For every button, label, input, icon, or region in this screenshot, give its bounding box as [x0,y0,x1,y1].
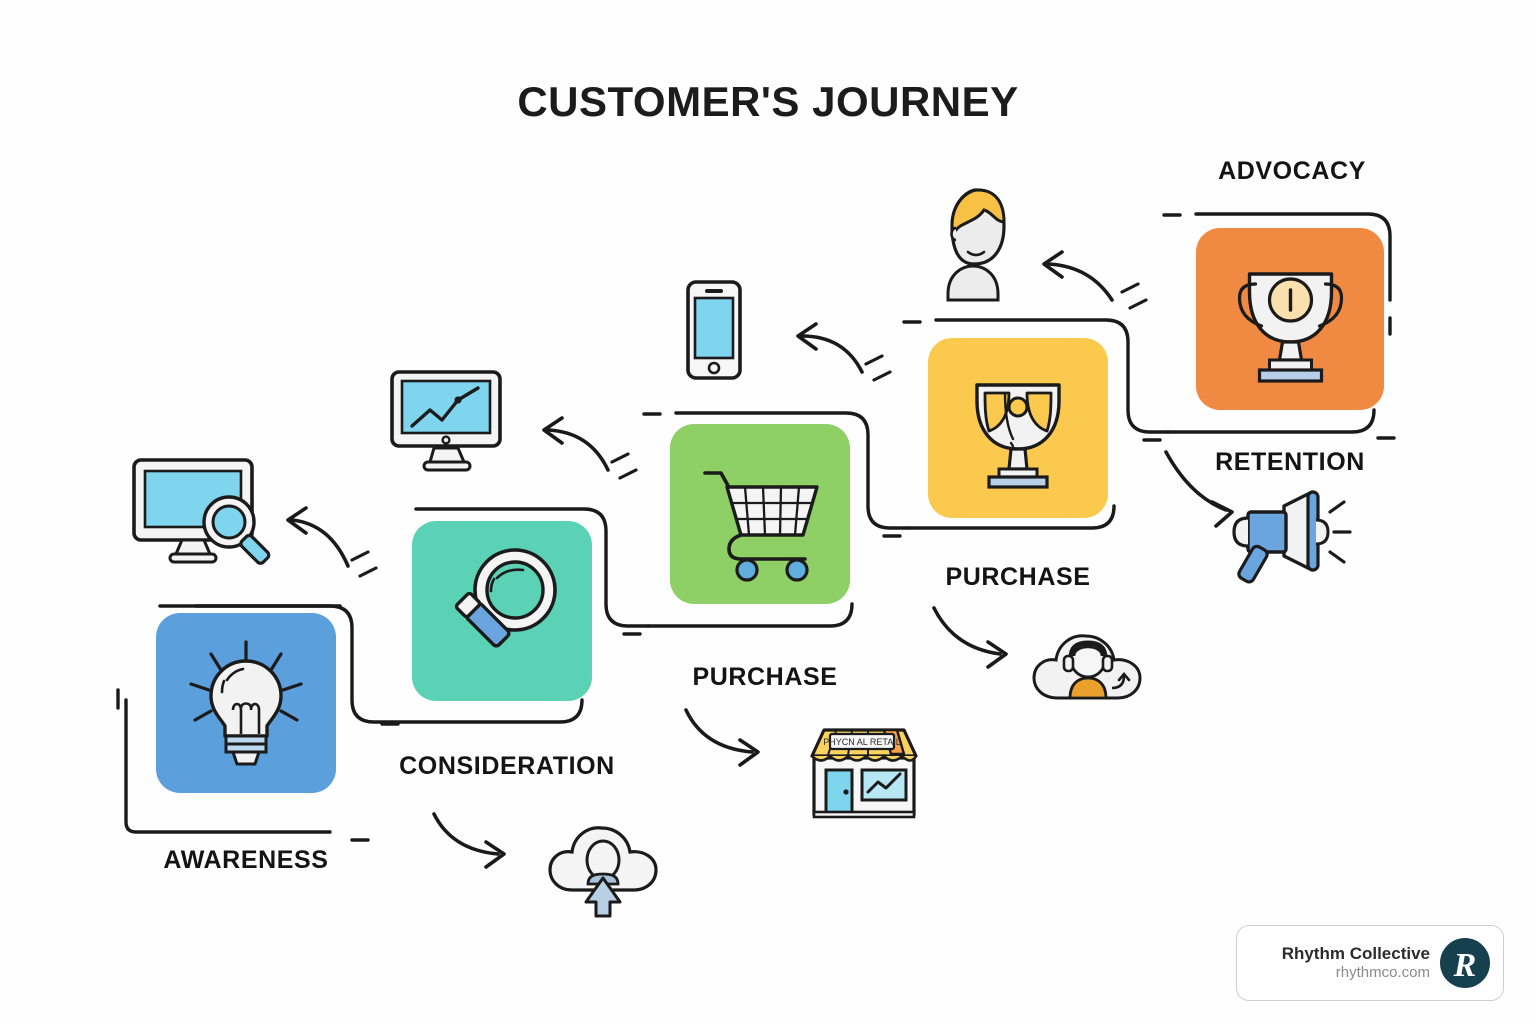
logo-mark-letter: R [1453,947,1477,984]
stage-tile-retention[interactable] [928,338,1108,518]
stage-label-consideration: CONSIDERATION [382,752,632,781]
person-avatar-icon [918,182,1028,311]
page-title: CUSTOMER'S JOURNEY [0,78,1536,126]
support-agent-cloud-icon [1028,622,1152,721]
monitor-search-icon [126,452,286,577]
rhythm-logo-icon: R [1439,937,1491,989]
logo-text-group: Rhythm Collective rhythmco.com [1282,943,1430,983]
stage-label-retention: PURCHASE [918,563,1118,592]
megaphone-icon [1224,486,1354,595]
cloud-user-icon [544,816,664,925]
stage-label-awareness: AWARENESS [156,846,336,875]
logo-badge[interactable]: Rhythm Collective rhythmco.com R [1236,925,1504,1001]
magnifier-icon [427,536,577,686]
monitor-chart-icon [386,366,508,481]
stage-label-purchase: PURCHASE [665,663,865,692]
shopping-cart-icon [685,439,835,589]
stage-tile-purchase[interactable] [670,424,850,604]
logo-url: rhythmco.com [1282,964,1430,983]
stage-tile-advocacy[interactable] [1196,228,1384,410]
trophy-icon [943,353,1093,503]
storefront-sign-text: PHYCN AL RETAIL [823,737,901,747]
storefront-icon: PHYCN AL RETAIL [798,714,930,825]
infographic-canvas: CUSTOMER'S JOURNEY [0,0,1536,1024]
stage-label-retention-bottom: RETENTION [1190,448,1390,477]
trophy-medal-icon [1213,244,1368,394]
stage-tile-awareness[interactable] [156,613,336,793]
lightbulb-icon [171,628,321,778]
smartphone-icon [682,278,746,387]
stage-label-advocacy: ADVOCACY [1192,157,1392,186]
stage-tile-consideration[interactable] [412,521,592,701]
logo-name: Rhythm Collective [1282,943,1430,964]
